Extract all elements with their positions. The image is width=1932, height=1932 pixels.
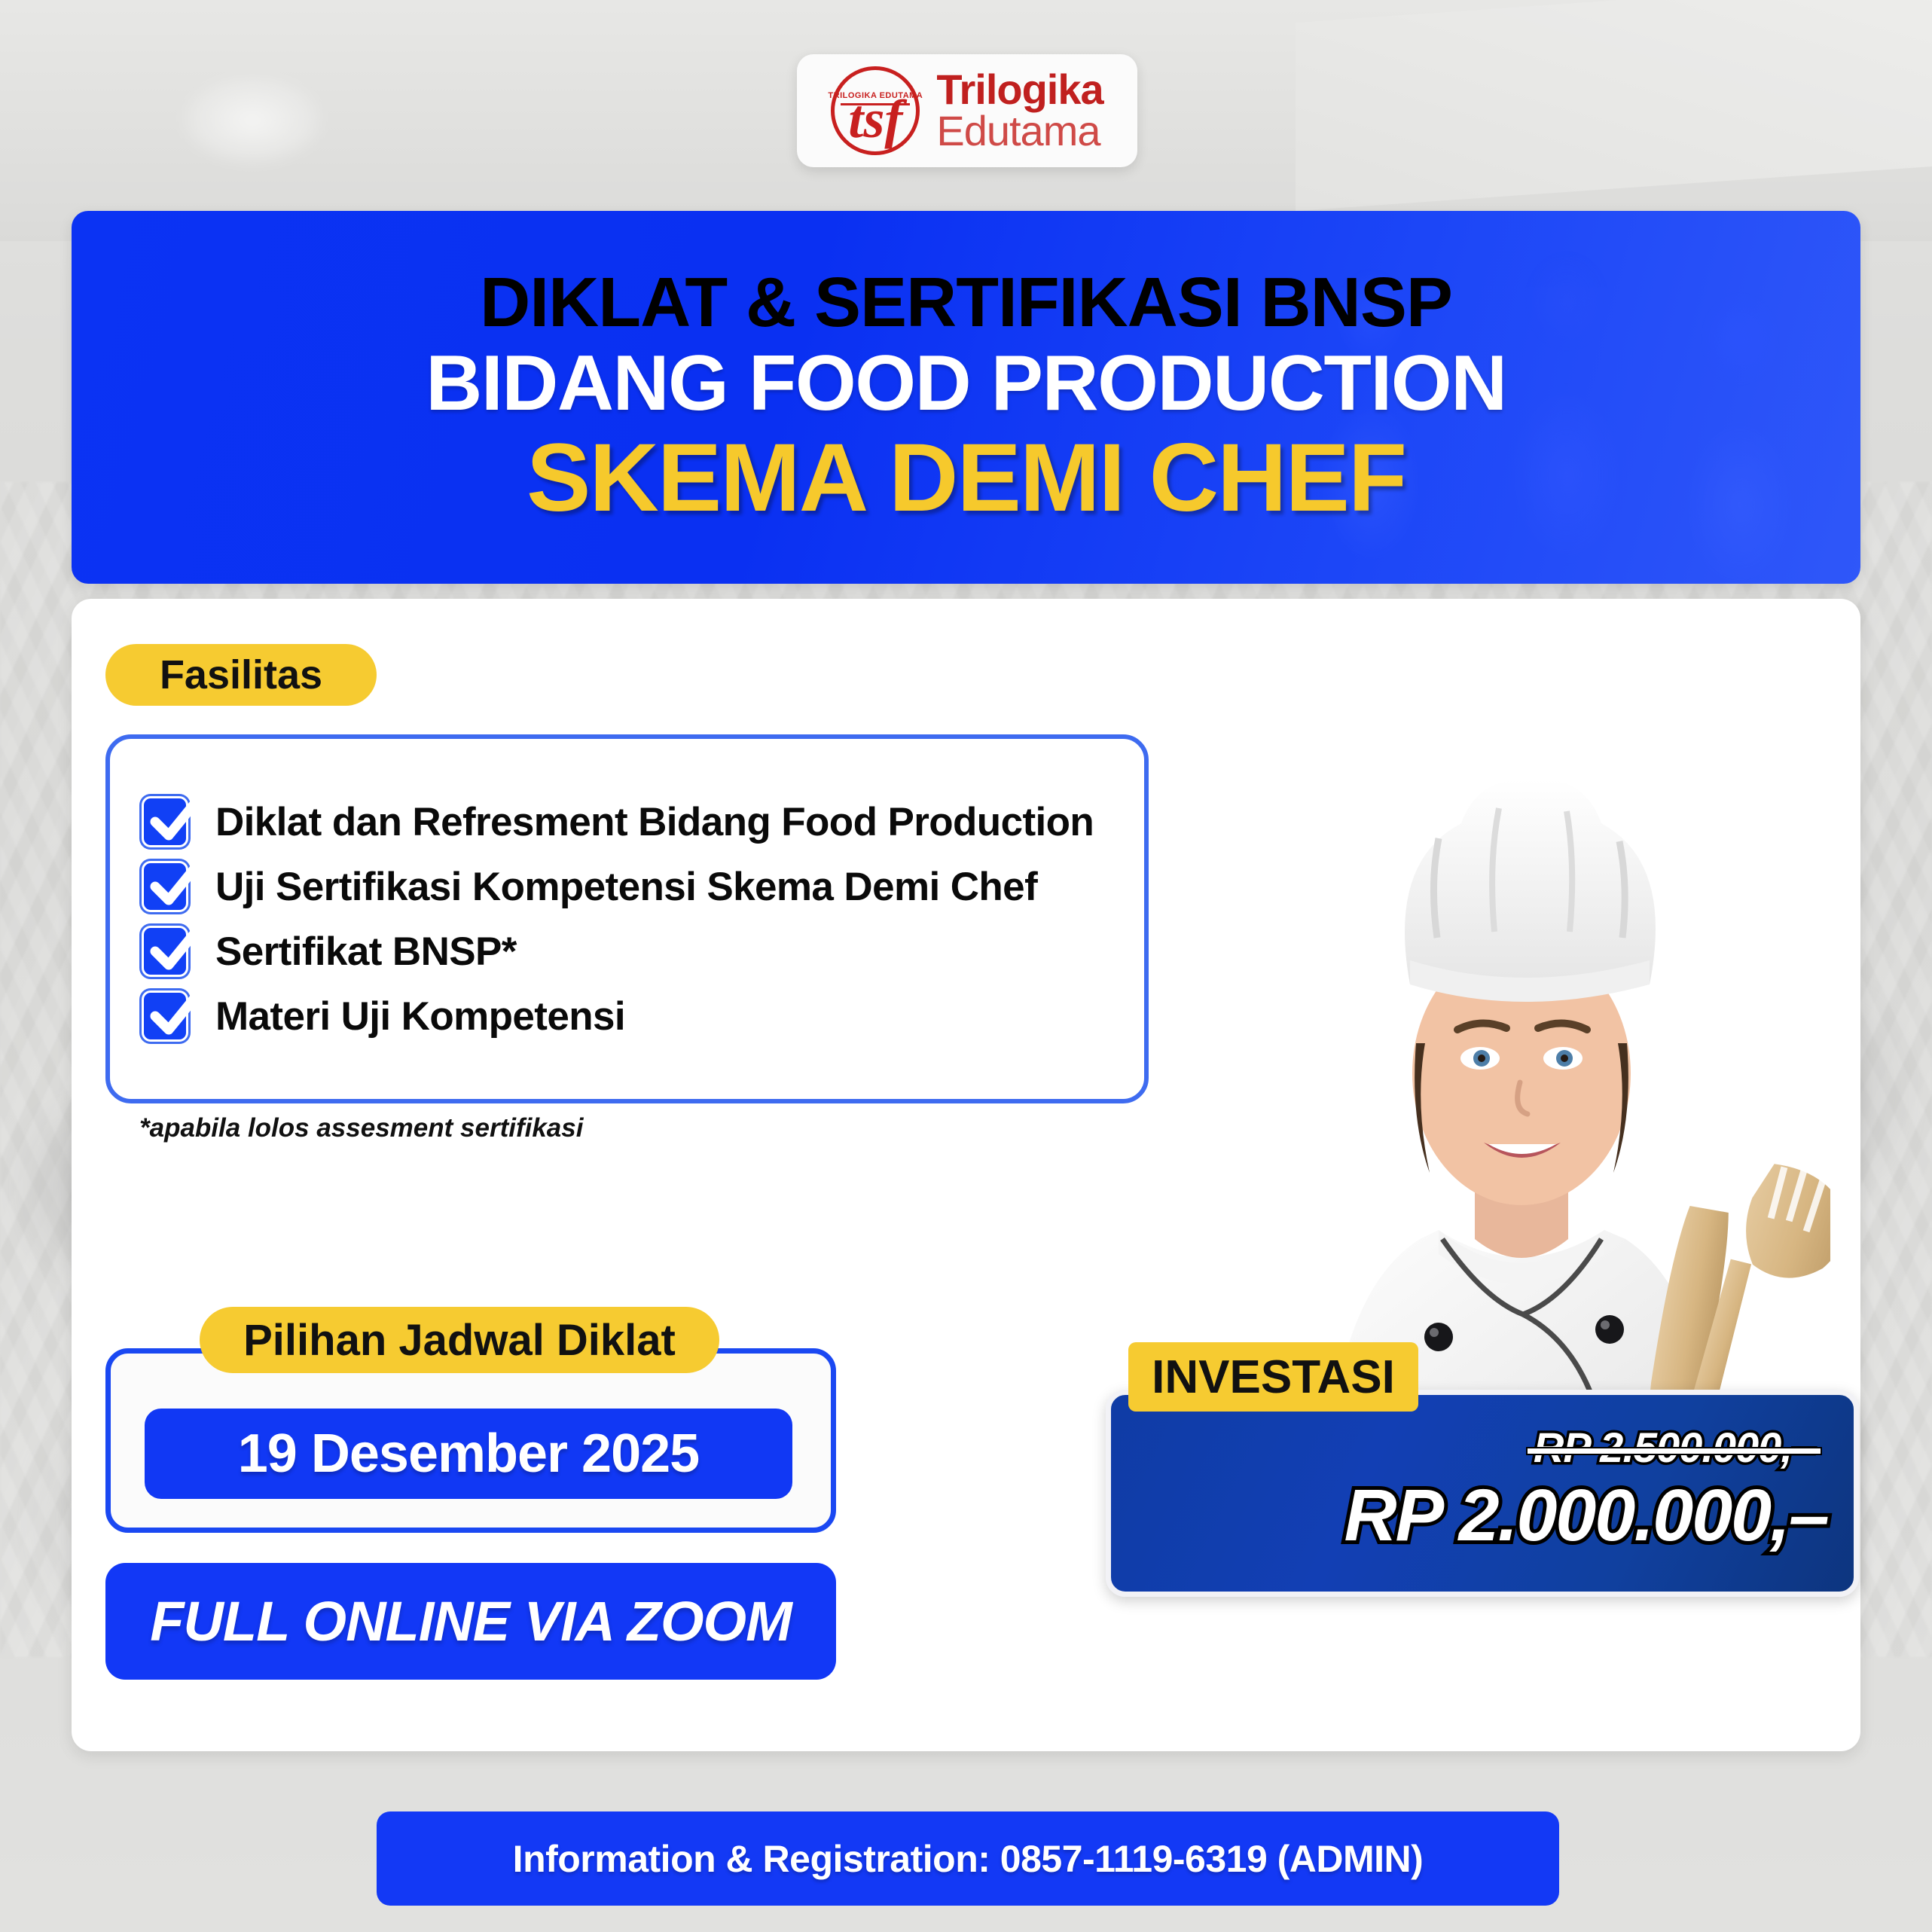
list-item: Diklat dan Refresment Bidang Food Produc… [142, 796, 1113, 847]
logo-divider [841, 103, 910, 105]
price-original: RP 2.500.000,– [1534, 1423, 1814, 1472]
facilities-badge: Fasilitas [105, 644, 377, 706]
header-line-3: SKEMA DEMI CHEF [526, 428, 1406, 529]
list-item: Uji Sertifikasi Kompetensi Skema Demi Ch… [142, 861, 1113, 912]
contact-footer[interactable]: Information & Registration: 0857-1119-63… [377, 1811, 1559, 1906]
header-text-group: DIKLAT & SERTIFIKASI BNSP BIDANG FOOD PR… [72, 211, 1860, 584]
poster-root: TRILOGIKA EDUTAMA tsf Trilogika Edutama … [0, 0, 1932, 1932]
schedule-date-button[interactable]: 19 Desember 2025 [145, 1409, 792, 1499]
investment-badge: INVESTASI [1128, 1342, 1418, 1412]
list-item: Sertifikat BNSP* [142, 926, 1113, 977]
header-line-2: BIDANG FOOD PRODUCTION [426, 343, 1506, 425]
facility-label: Diklat dan Refresment Bidang Food Produc… [215, 799, 1094, 845]
facilities-list: Diklat dan Refresment Bidang Food Produc… [110, 739, 1144, 1099]
header-line-1: DIKLAT & SERTIFIKASI BNSP [480, 266, 1452, 340]
header-banner: DIKLAT & SERTIFIKASI BNSP BIDANG FOOD PR… [72, 211, 1860, 584]
logo-ring-label: TRILOGIKA EDUTAMA [828, 91, 923, 100]
price-discounted: RP 2.000.000,– [1344, 1473, 1828, 1558]
facility-label: Sertifikat BNSP* [215, 929, 517, 975]
facilities-footnote: *apabila lolos assesment sertifikasi [139, 1113, 583, 1143]
investment-price-card: RP 2.500.000,– RP 2.000.000,– [1106, 1390, 1859, 1597]
facility-label: Uji Sertifikasi Kompetensi Skema Demi Ch… [215, 864, 1037, 910]
facility-label: Materi Uji Kompetensi [215, 993, 625, 1039]
checkmark-icon [142, 796, 188, 847]
contact-text: Information & Registration: 0857-1119-63… [513, 1837, 1424, 1881]
facilities-box: Diklat dan Refresment Bidang Food Produc… [105, 734, 1149, 1103]
checkmark-icon [142, 861, 188, 912]
checkmark-icon [142, 926, 188, 977]
delivery-mode-button[interactable]: FULL ONLINE VIA ZOOM [105, 1563, 836, 1680]
logo-circle-monogram-icon: TRILOGIKA EDUTAMA tsf [831, 66, 920, 155]
logo-wordmark: Trilogika Edutama [936, 69, 1103, 152]
logo-name-line2: Edutama [936, 111, 1103, 152]
brand-logo: TRILOGIKA EDUTAMA tsf Trilogika Edutama [797, 54, 1137, 167]
logo-name-line1: Trilogika [936, 69, 1103, 111]
checkmark-icon [142, 990, 188, 1042]
list-item: Materi Uji Kompetensi [142, 990, 1113, 1042]
schedule-badge: Pilihan Jadwal Diklat [200, 1307, 719, 1373]
